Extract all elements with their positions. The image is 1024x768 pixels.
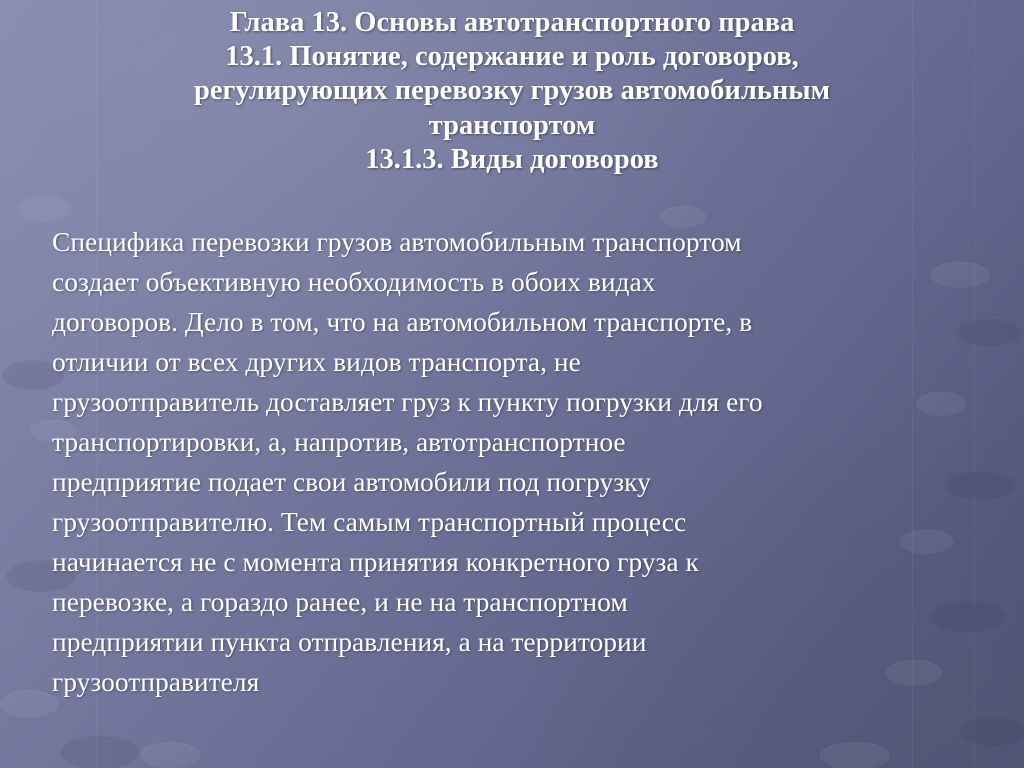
slide-body-text: Специфика перевозки грузов автомобильным… bbox=[52, 222, 962, 702]
body-line-3: договоров. Дело в том, что на автомобиль… bbox=[52, 302, 962, 342]
body-line-1: Специфика перевозки грузов автомобильным… bbox=[52, 222, 962, 262]
presentation-slide: Глава 13. Основы автотранспортного права… bbox=[0, 0, 1024, 768]
body-line-5: грузоотправитель доставляет груз к пункт… bbox=[52, 382, 962, 422]
title-line-5: 13.1.3. Виды договоров bbox=[0, 143, 1024, 177]
body-line-8: грузоотправителю. Тем самым транспортный… bbox=[52, 502, 962, 542]
slide-title: Глава 13. Основы автотранспортного права… bbox=[0, 6, 1024, 177]
title-line-3: регулирующих перевозку грузов автомобиль… bbox=[0, 74, 1024, 108]
body-line-10: перевозке, а гораздо ранее, и не на тран… bbox=[52, 582, 962, 622]
body-line-12: грузоотправителя bbox=[52, 662, 962, 702]
body-line-4: отличии от всех других видов транспорта,… bbox=[52, 342, 962, 382]
title-line-4: транспортом bbox=[0, 109, 1024, 143]
body-line-2: создает объективную необходимость в обои… bbox=[52, 262, 962, 302]
body-line-9: начинается не с момента принятия конкрет… bbox=[52, 542, 962, 582]
body-line-11: предприятии пункта отправления, а на тер… bbox=[52, 622, 962, 662]
title-line-2: 13.1. Понятие, содержание и роль договор… bbox=[0, 40, 1024, 74]
title-line-1: Глава 13. Основы автотранспортного права bbox=[0, 6, 1024, 40]
body-line-6: транспортировки, а, напротив, автотрансп… bbox=[52, 422, 962, 462]
body-line-7: предприятие подает свои автомобили под п… bbox=[52, 462, 962, 502]
